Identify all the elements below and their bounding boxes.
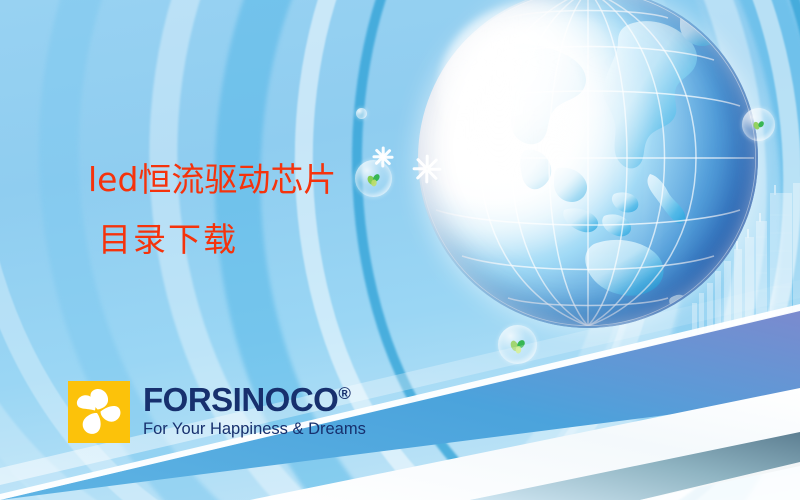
globe-earth-icon bbox=[418, 0, 758, 328]
bubble-pinwheel-3 bbox=[742, 108, 775, 141]
pinwheel-icon bbox=[364, 169, 383, 188]
bubble-pinwheel-2 bbox=[498, 325, 537, 364]
headline-line-1: led恒流驱动芯片 bbox=[88, 163, 336, 196]
pinwheel-flower-icon bbox=[68, 381, 130, 443]
bubble-small-1 bbox=[356, 108, 367, 119]
headline-block: led恒流驱动芯片 目录下载 bbox=[88, 163, 336, 256]
pinwheel-petals bbox=[68, 381, 130, 443]
brand-tagline: For Your Happiness & Dreams bbox=[143, 421, 366, 438]
brand-logo[interactable]: FORSINOCO® For Your Happiness & Dreams bbox=[68, 381, 366, 443]
bubble-pinwheel-1 bbox=[355, 160, 392, 197]
brand-text-block: FORSINOCO® For Your Happiness & Dreams bbox=[143, 381, 366, 438]
pinwheel-icon bbox=[750, 116, 767, 133]
registered-trademark-symbol: ® bbox=[338, 384, 351, 403]
globe-highlight bbox=[438, 2, 628, 179]
starburst-icon-2 bbox=[412, 154, 442, 184]
banner-root: led恒流驱动芯片 目录下载 FORSINOCO® For Your Happi… bbox=[0, 0, 800, 500]
pinwheel-icon bbox=[507, 334, 528, 355]
headline-line-2: 目录下载 bbox=[98, 223, 336, 256]
brand-name-text: FORSINOCO bbox=[143, 381, 338, 418]
brand-name: FORSINOCO® bbox=[143, 383, 366, 416]
